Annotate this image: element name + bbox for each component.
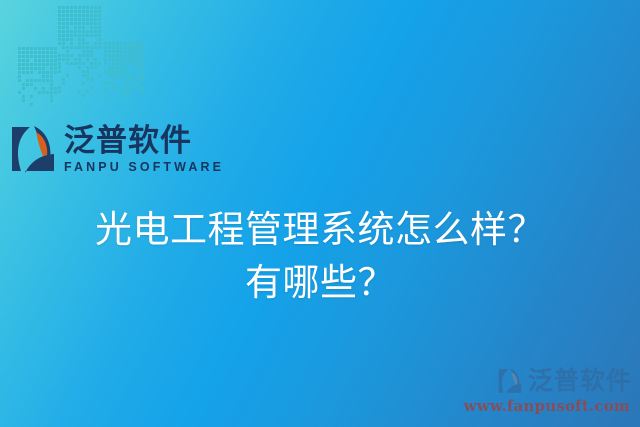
pixel-square — [86, 98, 89, 101]
pixel-square — [66, 82, 69, 85]
pixel-square — [70, 50, 73, 53]
pixel-square — [140, 54, 143, 57]
pixel-square — [78, 30, 81, 33]
pixel-square — [50, 91, 53, 94]
pixel-square — [90, 62, 93, 65]
pixel-square — [66, 62, 69, 65]
pixel-square — [18, 51, 21, 54]
pixel-square — [34, 75, 37, 78]
pixel-square — [50, 63, 53, 66]
pixel-square — [104, 98, 107, 101]
pixel-square — [18, 91, 21, 94]
pixel-square — [70, 94, 73, 97]
pixel-square — [132, 74, 135, 77]
pixel-square — [136, 54, 139, 57]
pixel-square — [140, 62, 143, 65]
pixel-square — [38, 47, 41, 50]
pixel-square — [46, 111, 49, 114]
pixel-square — [54, 71, 57, 74]
pixel-square — [94, 6, 97, 9]
pixel-square — [70, 78, 73, 81]
pixel-square — [22, 111, 25, 114]
pixel-square — [66, 66, 69, 69]
pixel-square — [94, 18, 97, 21]
pixel-square — [124, 66, 127, 69]
pixel-square — [58, 10, 61, 13]
pixel-square — [70, 98, 73, 101]
pixel-square — [38, 79, 41, 82]
pixel-square — [82, 22, 85, 25]
pixel-square — [140, 58, 143, 61]
pixel-square — [86, 78, 89, 81]
pixel-square — [70, 14, 73, 17]
pixel-square — [38, 71, 41, 74]
pixel-square — [86, 42, 89, 45]
pixel-square — [124, 54, 127, 57]
pixel-square — [70, 74, 73, 77]
pixel-square — [74, 6, 77, 9]
pixel-square — [62, 94, 65, 97]
pixel-square — [82, 18, 85, 21]
pixel-square — [108, 58, 111, 61]
pixel-square — [62, 34, 65, 37]
pixel-square — [26, 107, 29, 110]
pixel-square — [46, 55, 49, 58]
pixel-square — [58, 98, 61, 101]
pixel-square — [98, 42, 101, 45]
pixel-square — [98, 106, 101, 109]
pixel-square — [38, 63, 41, 66]
pixel-square — [116, 42, 119, 45]
pixel-square — [94, 78, 97, 81]
pixel-square — [66, 74, 69, 77]
pixel-square — [30, 99, 33, 102]
pixel-square — [124, 42, 127, 45]
pixel-square — [90, 94, 93, 97]
pixel-square — [22, 95, 25, 98]
pixel-square — [58, 90, 61, 93]
pixel-square — [78, 18, 81, 21]
pixel-square — [82, 90, 85, 93]
pixel-square — [120, 62, 123, 65]
pixel-square — [50, 71, 53, 74]
pixel-square — [104, 66, 107, 69]
pixel-square — [108, 54, 111, 57]
pixel-square — [136, 78, 139, 81]
pixel-square — [98, 90, 101, 93]
pixel-square — [128, 98, 131, 101]
pixel-square — [50, 79, 53, 82]
pixel-square — [62, 18, 65, 21]
pixel-square — [98, 22, 101, 25]
pixel-square — [132, 82, 135, 85]
pixel-square — [42, 55, 45, 58]
pixel-square — [86, 54, 89, 57]
pixel-square — [18, 63, 21, 66]
pixel-square — [120, 102, 123, 105]
pixel-square — [62, 42, 65, 45]
pixel-square — [104, 110, 107, 113]
pixel-square — [132, 78, 135, 81]
pixel-square — [46, 79, 49, 82]
pixel-square — [66, 94, 69, 97]
pixel-square — [70, 62, 73, 65]
pixel-square — [26, 75, 29, 78]
pixel-square — [90, 86, 93, 89]
pixel-square — [140, 74, 143, 77]
pixel-square — [94, 70, 97, 73]
pixel-square — [94, 54, 97, 57]
pixel-skyline-block-right — [104, 42, 143, 113]
pixel-square — [58, 94, 61, 97]
pixel-square — [74, 18, 77, 21]
pixel-square — [90, 14, 93, 17]
pixel-square — [86, 82, 89, 85]
pixel-square — [38, 67, 41, 70]
pixel-square — [22, 99, 25, 102]
pixel-square — [136, 50, 139, 53]
pixel-square — [18, 67, 21, 70]
pixel-square — [78, 90, 81, 93]
pixel-square — [54, 103, 57, 106]
pixel-square — [86, 34, 89, 37]
pixel-square — [86, 22, 89, 25]
pixel-square — [124, 74, 127, 77]
pixel-square — [86, 66, 89, 69]
pixel-square — [30, 75, 33, 78]
pixel-square — [82, 46, 85, 49]
pixel-square — [38, 83, 41, 86]
pixel-square — [62, 58, 65, 61]
pixel-square — [42, 83, 45, 86]
pixel-square — [78, 86, 81, 89]
pixel-square — [66, 98, 69, 101]
pixel-square — [30, 111, 33, 114]
pixel-square — [94, 106, 97, 109]
pixel-square — [58, 22, 61, 25]
pixel-square — [50, 67, 53, 70]
pixel-square — [82, 66, 85, 69]
pixel-square — [42, 47, 45, 50]
pixel-square — [34, 83, 37, 86]
pixel-square — [124, 106, 127, 109]
pixel-square — [26, 67, 29, 70]
pixel-square — [34, 87, 37, 90]
pixel-square — [94, 66, 97, 69]
pixel-square — [62, 62, 65, 65]
pixel-square — [124, 78, 127, 81]
pixel-square — [90, 6, 93, 9]
pixel-square — [94, 46, 97, 49]
pixel-square — [116, 106, 119, 109]
pixel-square — [26, 59, 29, 62]
pixel-square — [54, 111, 57, 114]
pixel-square — [26, 87, 29, 90]
pixel-square — [120, 46, 123, 49]
pixel-square — [82, 78, 85, 81]
pixel-square — [26, 83, 29, 86]
pixel-square — [112, 86, 115, 89]
pixel-square — [78, 10, 81, 13]
pixel-square — [38, 87, 41, 90]
pixel-square — [62, 70, 65, 73]
pixel-square — [50, 47, 53, 50]
pixel-square — [54, 83, 57, 86]
pixel-square — [90, 50, 93, 53]
pixel-square — [108, 102, 111, 105]
pixel-square — [50, 75, 53, 78]
pixel-square — [112, 66, 115, 69]
pixel-square — [90, 54, 93, 57]
pixel-square — [42, 91, 45, 94]
pixel-square — [34, 55, 37, 58]
pixel-square — [90, 22, 93, 25]
pixel-square — [108, 78, 111, 81]
pixel-square — [58, 86, 61, 89]
pixel-square — [58, 46, 61, 49]
pixel-square — [82, 6, 85, 9]
pixel-square — [78, 78, 81, 81]
pixel-square — [128, 78, 131, 81]
brand-name-cn: 泛普软件 — [64, 125, 224, 156]
pixel-square — [86, 6, 89, 9]
brand-logo: 泛普软件 FANPU SOFTWARE — [9, 118, 224, 180]
pixel-square — [78, 58, 81, 61]
pixel-square — [136, 82, 139, 85]
pixel-square — [18, 55, 21, 58]
pixel-square — [42, 103, 45, 106]
pixel-square — [86, 38, 89, 41]
pixel-square — [82, 54, 85, 57]
pixel-square — [128, 90, 131, 93]
pixel-square — [140, 102, 143, 105]
pixel-square — [74, 82, 77, 85]
pixel-square — [94, 58, 97, 61]
headline: 光电工程管理系统怎么样？ 有哪些？ — [0, 203, 640, 309]
pixel-square — [132, 66, 135, 69]
pixel-square — [18, 103, 21, 106]
pixel-square — [62, 50, 65, 53]
pixel-square — [104, 74, 107, 77]
pixel-square — [136, 46, 139, 49]
pixel-square — [70, 102, 73, 105]
pixel-square — [62, 46, 65, 49]
pixel-square — [34, 51, 37, 54]
pixel-skyline-block-center — [58, 6, 101, 109]
pixel-square — [82, 94, 85, 97]
pixel-square — [66, 58, 69, 61]
headline-line-2: 有哪些？ — [0, 256, 640, 309]
pixel-square — [30, 47, 33, 50]
pixel-square — [78, 66, 81, 69]
pixel-square — [104, 86, 107, 89]
pixel-square — [140, 94, 143, 97]
pixel-square — [42, 99, 45, 102]
pixel-square — [18, 111, 21, 114]
pixel-square — [108, 42, 111, 45]
pixel-square — [98, 26, 101, 29]
pixel-square — [82, 70, 85, 73]
pixel-square — [128, 74, 131, 77]
pixel-square — [78, 6, 81, 9]
pixel-square — [62, 86, 65, 89]
pixel-square — [116, 50, 119, 53]
pixel-square — [86, 74, 89, 77]
pixel-square — [90, 90, 93, 93]
pixel-square — [116, 58, 119, 61]
pixel-square — [18, 75, 21, 78]
pixel-square — [30, 51, 33, 54]
pixel-square — [18, 107, 21, 110]
pixel-square — [128, 82, 131, 85]
pixel-square — [78, 50, 81, 53]
pixel-square — [94, 34, 97, 37]
pixel-square — [136, 66, 139, 69]
pixel-square — [90, 18, 93, 21]
pixel-square — [82, 42, 85, 45]
pixel-square — [94, 98, 97, 101]
pixel-square — [94, 86, 97, 89]
pixel-square — [116, 86, 119, 89]
pixel-square — [22, 47, 25, 50]
pixel-square — [108, 66, 111, 69]
pixel-square — [30, 71, 33, 74]
pixel-square — [136, 62, 139, 65]
pixel-square — [98, 70, 101, 73]
pixel-square — [78, 62, 81, 65]
pixel-square — [58, 38, 61, 41]
pixel-square — [30, 107, 33, 110]
pixel-square — [18, 79, 21, 82]
pixel-square — [104, 62, 107, 65]
pixel-square — [38, 51, 41, 54]
pixel-square — [74, 46, 77, 49]
pixel-square — [90, 102, 93, 105]
pixel-square — [132, 106, 135, 109]
pixel-square — [70, 106, 73, 109]
pixel-square — [46, 87, 49, 90]
pixel-square — [94, 10, 97, 13]
pixel-square — [26, 95, 29, 98]
pixel-square — [98, 50, 101, 53]
pixel-square — [120, 86, 123, 89]
pixel-square — [108, 74, 111, 77]
pixel-square — [62, 38, 65, 41]
pixel-square — [104, 82, 107, 85]
pixel-square — [120, 90, 123, 93]
pixel-square — [112, 82, 115, 85]
pixel-square — [86, 70, 89, 73]
pixel-square — [98, 30, 101, 33]
pixel-square — [58, 82, 61, 85]
pixel-square — [94, 102, 97, 105]
pixel-square — [22, 79, 25, 82]
pixel-square — [50, 103, 53, 106]
pixel-square — [62, 106, 65, 109]
pixel-square — [22, 67, 25, 70]
pixel-square — [116, 102, 119, 105]
pixel-square — [112, 94, 115, 97]
pixel-square — [108, 110, 111, 113]
pixel-square — [62, 74, 65, 77]
pixel-square — [30, 87, 33, 90]
pixel-square — [54, 47, 57, 50]
pixel-square — [46, 67, 49, 70]
pixel-square — [34, 63, 37, 66]
pixel-square — [104, 70, 107, 73]
pixel-square — [98, 86, 101, 89]
pixel-square — [140, 66, 143, 69]
pixel-square — [104, 50, 107, 53]
pixel-square — [22, 55, 25, 58]
pixel-square — [26, 71, 29, 74]
pixel-square — [62, 98, 65, 101]
pixel-square — [108, 98, 111, 101]
pixel-square — [86, 26, 89, 29]
pixel-square — [34, 107, 37, 110]
pixel-square — [46, 51, 49, 54]
pixel-square — [98, 78, 101, 81]
pixel-square — [94, 26, 97, 29]
pixel-square — [112, 98, 115, 101]
pixel-square — [18, 99, 21, 102]
pixel-square — [82, 50, 85, 53]
pixel-square — [132, 54, 135, 57]
pixel-square — [22, 91, 25, 94]
pixel-square — [22, 71, 25, 74]
pixel-square — [74, 22, 77, 25]
pixel-square — [70, 18, 73, 21]
pixel-square — [124, 62, 127, 65]
pixel-square — [62, 22, 65, 25]
brand-name-en: FANPU SOFTWARE — [64, 161, 224, 174]
pixel-square — [42, 107, 45, 110]
pixel-square — [98, 46, 101, 49]
pixel-square — [38, 59, 41, 62]
pixel-square — [54, 55, 57, 58]
pixel-square — [90, 78, 93, 81]
pixel-square — [98, 74, 101, 77]
pixel-square — [90, 30, 93, 33]
pixel-square — [50, 83, 53, 86]
pixel-square — [34, 99, 37, 102]
pixel-square — [26, 103, 29, 106]
pixel-square — [46, 107, 49, 110]
pixel-square — [42, 67, 45, 70]
pixel-square — [104, 46, 107, 49]
pixel-square — [78, 26, 81, 29]
pixel-square — [90, 66, 93, 69]
pixel-square — [124, 58, 127, 61]
pixel-square — [116, 78, 119, 81]
pixel-square — [112, 106, 115, 109]
pixel-square — [54, 79, 57, 82]
pixel-skyline-pattern — [0, 0, 160, 120]
pixel-square — [112, 70, 115, 73]
pixel-square — [132, 110, 135, 113]
pixel-square — [74, 50, 77, 53]
pixel-square — [74, 34, 77, 37]
headline-line-1: 光电工程管理系统怎么样？ — [0, 203, 640, 256]
pixel-square — [82, 14, 85, 17]
pixel-square — [70, 54, 73, 57]
pixel-square — [34, 59, 37, 62]
pixel-square — [58, 66, 61, 69]
pixel-square — [128, 70, 131, 73]
pixel-square — [58, 58, 61, 61]
pixel-square — [90, 98, 93, 101]
pixel-square — [104, 94, 107, 97]
